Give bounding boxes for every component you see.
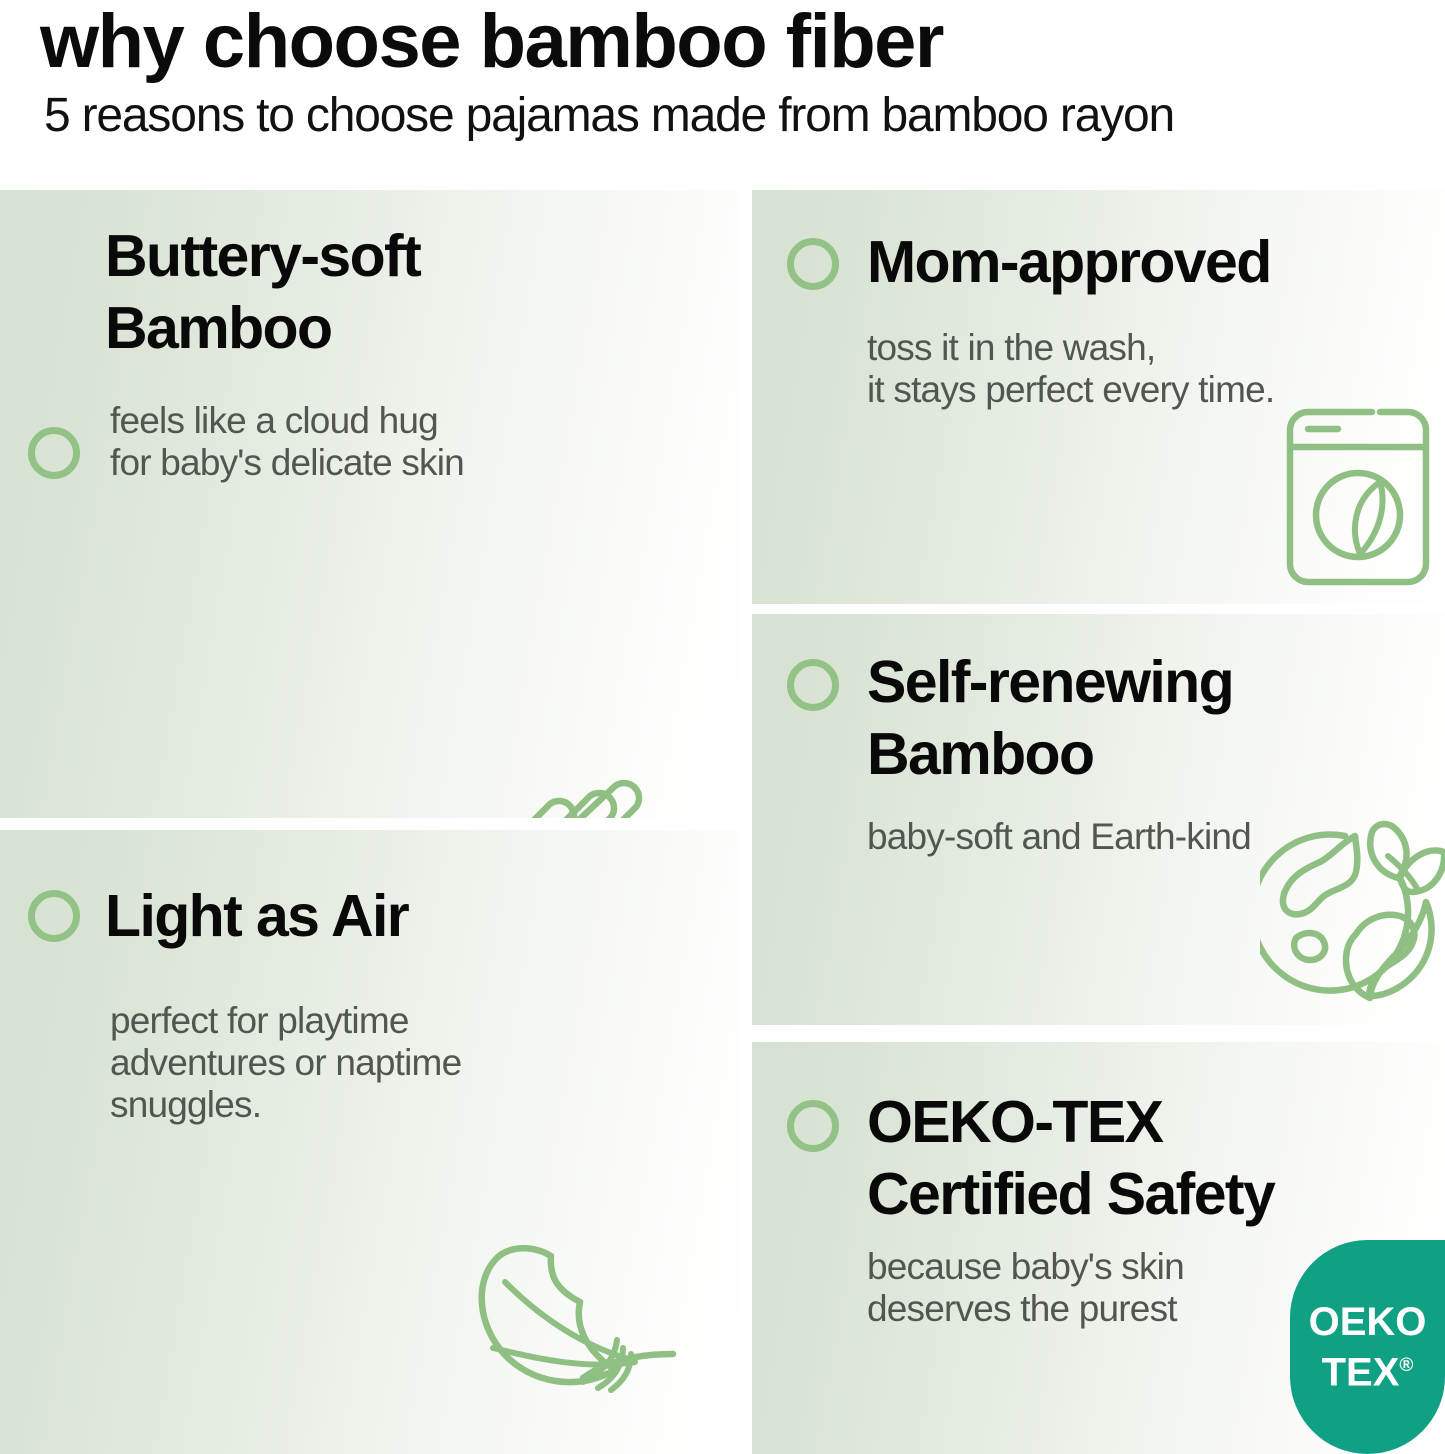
oeko-badge-text: TEX [1322,1350,1400,1394]
card-body: toss it in the wash, it stays perfect ev… [867,327,1274,411]
card-body: baby-soft and Earth-kind [867,816,1251,858]
washing-machine-icon [1280,402,1445,592]
card-heading-line-1: Light as Air [105,880,408,952]
card-buttery-soft-bamboo: Buttery-soft Bamboo feels like a cloud h… [0,190,740,818]
card-body-line-2: for baby's delicate skin [110,442,464,484]
card-body-line-1: toss it in the wash, [867,327,1274,369]
infographic-page: why choose bamboo fiber 5 reasons to cho… [0,0,1445,1454]
card-body: because baby's skin deserves the purest [867,1246,1184,1330]
card-body-line-1: feels like a cloud hug [110,400,464,442]
oeko-badge-line-2: TEX® [1322,1344,1414,1394]
page-subtitle: 5 reasons to choose pajamas made from ba… [44,85,1174,147]
card-heading: OEKO-TEX Certified Safety [867,1086,1274,1230]
page-title: why choose bamboo fiber [40,0,943,88]
card-body-line-3: snuggles. [110,1084,461,1126]
card-body-line-1: baby-soft and Earth-kind [867,816,1251,858]
card-light-as-air: Light as Air perfect for playtime advent… [0,830,740,1454]
card-heading: Mom-approved [867,226,1271,298]
oeko-badge-line-1: OEKO [1309,1300,1427,1344]
card-body-line-1: perfect for playtime [110,1000,461,1042]
card-heading: Buttery-soft Bamboo [105,220,420,364]
circle-bullet-icon [787,238,839,290]
card-body-line-2: adventures or naptime [110,1042,461,1084]
card-heading-line-1: Mom-approved [867,226,1271,298]
card-self-renewing-bamboo: Self-renewing Bamboo baby-soft and Earth… [752,614,1445,1025]
feather-icon [465,1230,715,1445]
card-heading-line-1: Self-renewing [867,646,1233,718]
registered-mark-icon: ® [1399,1355,1413,1376]
circle-bullet-icon [28,427,80,479]
circle-bullet-icon [787,1100,839,1152]
card-heading-line-2: Bamboo [105,292,420,364]
card-heading-line-1: Buttery-soft [105,220,420,292]
card-oeko-tex-certified-safety: OEKO-TEX Certified Safety because baby's… [752,1042,1445,1454]
card-body-line-1: because baby's skin [867,1246,1184,1288]
header: why choose bamboo fiber 5 reasons to cho… [0,0,1445,190]
oeko-tex-badge-icon: OEKO TEX® [1290,1240,1445,1454]
card-heading: Self-renewing Bamboo [867,646,1233,790]
circle-bullet-icon [787,659,839,711]
card-heading: Light as Air [105,880,408,952]
hand-touch-icon [480,780,730,818]
card-heading-line-2: Bamboo [867,718,1233,790]
card-mom-approved: Mom-approved toss it in the wash, it sta… [752,190,1445,604]
circle-bullet-icon [28,890,80,942]
globe-leaf-icon [1260,810,1445,1015]
card-body-line-2: deserves the purest [867,1288,1184,1330]
card-body-line-2: it stays perfect every time. [867,369,1274,411]
card-heading-line-1: OEKO-TEX [867,1086,1274,1158]
card-body: feels like a cloud hug for baby's delica… [110,400,464,484]
card-heading-line-2: Certified Safety [867,1158,1274,1230]
card-body: perfect for playtime adventures or napti… [110,1000,461,1126]
